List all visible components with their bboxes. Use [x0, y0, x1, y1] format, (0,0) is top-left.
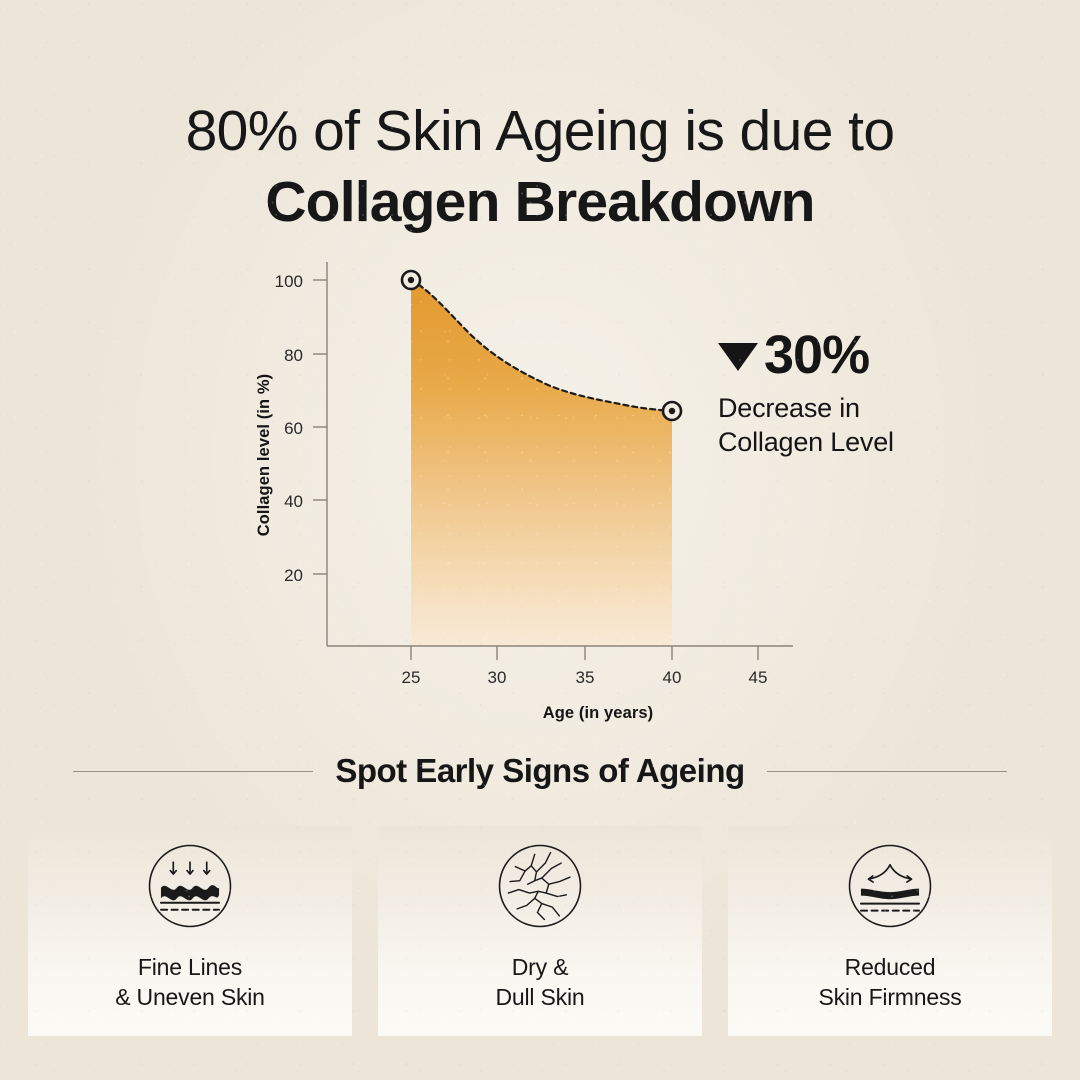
- cracked-skin-icon: [496, 842, 584, 930]
- x-tick-30: 30: [488, 668, 507, 687]
- y-tick-60: 60: [284, 419, 303, 438]
- card-label: Fine Lines & Uneven Skin: [115, 952, 265, 1012]
- section-header: Spot Early Signs of Ageing: [0, 752, 1080, 790]
- card-label: Reduced Skin Firmness: [818, 952, 961, 1012]
- callout-subtitle: Decrease in Collagen Level: [718, 391, 1018, 459]
- card-reduced-firmness[interactable]: Reduced Skin Firmness: [728, 826, 1052, 1036]
- x-axis-title: Age (in years): [543, 704, 654, 722]
- wavy-skin-downward-arrows-icon: [146, 842, 234, 930]
- x-tick-40: 40: [663, 668, 682, 687]
- sagging-skin-outward-arrows-icon: [846, 842, 934, 930]
- card-fine-lines[interactable]: Fine Lines & Uneven Skin: [28, 826, 352, 1036]
- y-tick-40: 40: [284, 492, 303, 511]
- callout-headline-row: 30%: [718, 327, 1018, 383]
- x-axis-ticks: [411, 646, 758, 660]
- triangle-down-icon: [718, 343, 758, 371]
- section-title: Spot Early Signs of Ageing: [335, 752, 744, 790]
- section-rule-right: [767, 771, 1007, 772]
- y-tick-100: 100: [275, 272, 303, 291]
- x-tick-25: 25: [402, 668, 421, 687]
- y-axis-title: Collagen level (in %): [255, 374, 273, 537]
- x-axis-tick-labels: 25 30 35 40 45: [402, 668, 768, 687]
- chart-data-point-end: [663, 402, 681, 420]
- y-axis-tick-labels: 100 80 60 40 20: [275, 272, 303, 585]
- section-rule-left: [73, 771, 313, 772]
- y-axis-ticks: [313, 280, 327, 574]
- chart-area-fill: [411, 280, 672, 646]
- card-label: Dry & Dull Skin: [496, 952, 585, 1012]
- x-tick-35: 35: [576, 668, 595, 687]
- y-tick-20: 20: [284, 566, 303, 585]
- y-tick-80: 80: [284, 346, 303, 365]
- signs-card-row: Fine Lines & Uneven Skin Dry & Dull Skin: [28, 826, 1052, 1036]
- callout-percent: 30%: [764, 327, 869, 383]
- chart-data-point-start: [402, 271, 420, 289]
- x-tick-45: 45: [749, 668, 768, 687]
- decrease-callout: 30% Decrease in Collagen Level: [718, 327, 1018, 459]
- card-dry-dull-skin[interactable]: Dry & Dull Skin: [378, 826, 702, 1036]
